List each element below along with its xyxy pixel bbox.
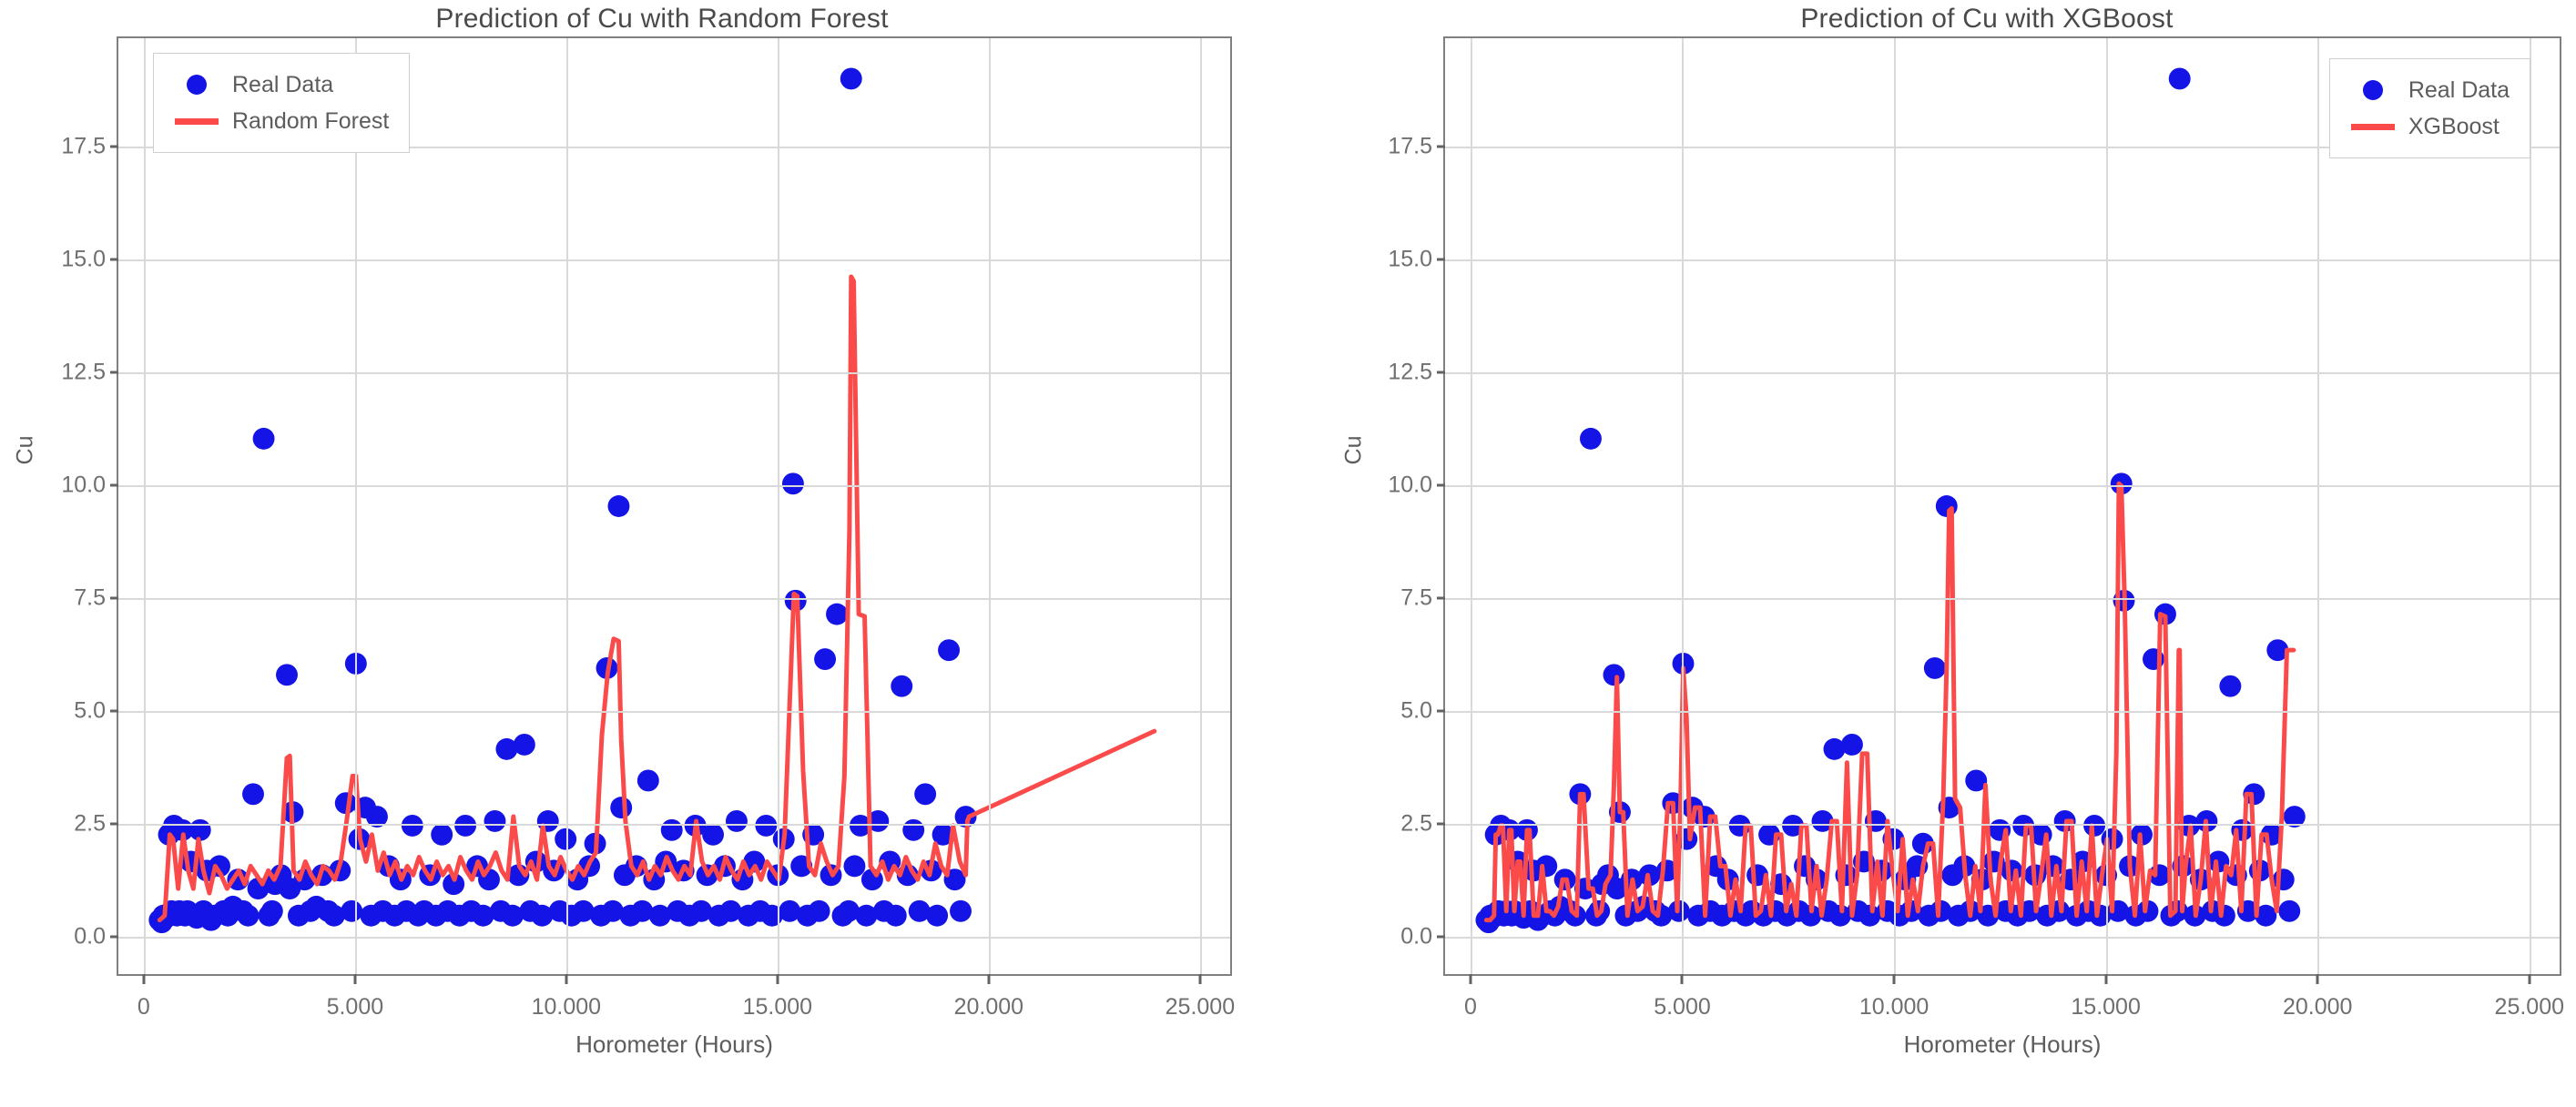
data-point (341, 900, 362, 922)
data-point (253, 428, 275, 450)
data-point (2219, 675, 2241, 697)
series-canvas-left (118, 38, 1230, 974)
x-tick-mark (2528, 974, 2530, 984)
y-tick-label: 15.0 (61, 247, 106, 273)
legend-item-real-data: Real Data (170, 66, 389, 103)
data-point (726, 810, 748, 832)
data-point (637, 770, 659, 792)
y-tick-mark (1437, 936, 1445, 939)
y-tick-label: 15.0 (1388, 247, 1432, 273)
x-tick-label: 15.000 (743, 994, 812, 1021)
x-tick-mark (1198, 974, 1201, 984)
gridline-horizontal (118, 598, 1230, 600)
data-point (782, 472, 804, 494)
chart-panel-random-forest: Prediction of Cu with Random Forest 0.02… (0, 0, 1288, 1107)
legend-left: Real Data Random Forest (153, 53, 410, 153)
data-point (1603, 664, 1624, 686)
y-axis-title-right: Cu (1340, 436, 1367, 465)
gridline-horizontal (1445, 711, 2560, 713)
x-tick-mark (565, 974, 567, 984)
legend-label-model: Random Forest (223, 108, 389, 135)
x-axis-title-left: Horometer (Hours) (575, 1031, 773, 1059)
data-point (1580, 428, 1602, 450)
gridline-vertical (989, 38, 991, 974)
y-tick-label: 2.5 (1400, 811, 1432, 838)
x-tick-label: 20.000 (954, 994, 1023, 1021)
data-point (1535, 855, 1557, 877)
gridline-horizontal (118, 711, 1230, 713)
gridline-vertical (2317, 38, 2319, 974)
data-point (2278, 900, 2300, 922)
x-axis-title-right: Horometer (Hours) (1904, 1031, 2102, 1059)
data-point (2169, 68, 2191, 90)
gridline-vertical (778, 38, 779, 974)
y-tick-label: 5.0 (74, 698, 106, 725)
data-point (2214, 905, 2235, 927)
y-tick-mark (1437, 146, 1445, 148)
gridline-horizontal (118, 824, 1230, 826)
data-point (950, 900, 972, 922)
data-point (702, 824, 724, 846)
gridline-vertical (1894, 38, 1896, 974)
chart-title-right: Prediction of Cu with XGBoost (1288, 4, 2576, 35)
real-data-points (148, 68, 976, 934)
legend-item-real-data: Real Data (2347, 72, 2510, 108)
y-tick-label: 7.5 (1400, 585, 1432, 612)
data-point (885, 905, 907, 927)
data-point (1936, 495, 1958, 517)
x-tick-mark (1469, 974, 1471, 984)
x-tick-label: 25.000 (2495, 994, 2564, 1021)
legend-item-model: XGBoost (2347, 108, 2510, 145)
data-point (242, 783, 264, 805)
gridline-horizontal (1445, 372, 2560, 374)
y-tick-mark (1437, 259, 1445, 261)
data-point (809, 900, 830, 922)
x-tick-label: 5.000 (327, 994, 384, 1021)
figure-canvas: Prediction of Cu with Random Forest 0.02… (0, 0, 2576, 1107)
series-canvas-right (1445, 38, 2560, 974)
x-tick-label: 10.000 (532, 994, 601, 1021)
prediction-line (1486, 483, 2293, 919)
data-point (1841, 734, 1863, 756)
x-tick-mark (2104, 974, 2107, 984)
x-tick-label: 0 (1464, 994, 1477, 1021)
data-point (902, 819, 924, 841)
y-tick-label: 17.5 (61, 134, 106, 160)
x-tick-mark (1893, 974, 1896, 984)
gridline-vertical (1471, 38, 1472, 974)
y-tick-label: 12.5 (61, 360, 106, 386)
y-tick-mark (110, 146, 118, 148)
model-line-icon (170, 118, 223, 125)
y-tick-mark (1437, 823, 1445, 826)
data-point (484, 810, 506, 832)
y-tick-label: 12.5 (1388, 360, 1432, 386)
y-tick-label: 17.5 (1388, 134, 1432, 160)
gridline-horizontal (118, 937, 1230, 939)
y-axis-title-left: Cu (12, 436, 38, 465)
data-point (826, 604, 848, 625)
data-point (607, 495, 629, 517)
gridline-horizontal (1445, 598, 2560, 600)
gridline-horizontal (118, 259, 1230, 261)
legend-item-model: Random Forest (170, 103, 389, 139)
y-tick-label: 0.0 (74, 924, 106, 950)
gridline-horizontal (1445, 259, 2560, 261)
data-point (261, 900, 283, 922)
plot-area-right: 0.02.55.07.510.012.515.017.5 05.00010.00… (1443, 36, 2561, 976)
x-tick-label: 25.000 (1166, 994, 1235, 1021)
real-data-dot-icon (170, 75, 223, 95)
plot-area-left: 0.02.55.07.510.012.515.017.5 05.00010.00… (117, 36, 1232, 976)
chart-panel-xgboost: Prediction of Cu with XGBoost 0.02.55.07… (1288, 0, 2576, 1107)
y-tick-mark (110, 597, 118, 600)
x-tick-mark (2316, 974, 2319, 984)
gridline-vertical (1200, 38, 1202, 974)
y-tick-mark (110, 259, 118, 261)
data-point (891, 675, 912, 697)
y-tick-mark (110, 371, 118, 374)
x-tick-mark (353, 974, 356, 984)
gridline-vertical (566, 38, 568, 974)
x-tick-label: 10.000 (1859, 994, 1929, 1021)
gridline-horizontal (1445, 824, 2560, 826)
gridline-vertical (2106, 38, 2108, 974)
gridline-horizontal (118, 485, 1230, 487)
x-tick-mark (142, 974, 145, 984)
data-point (840, 68, 862, 90)
y-tick-mark (110, 484, 118, 487)
y-tick-label: 5.0 (1400, 698, 1432, 725)
chart-title-left: Prediction of Cu with Random Forest (0, 4, 1288, 35)
y-tick-mark (110, 936, 118, 939)
plot-inner-right (1445, 38, 2560, 974)
x-tick-mark (1681, 974, 1684, 984)
y-tick-mark (1437, 484, 1445, 487)
legend-right: Real Data XGBoost (2329, 58, 2530, 158)
gridline-horizontal (1445, 485, 2560, 487)
y-tick-label: 10.0 (61, 472, 106, 499)
data-point (938, 639, 960, 661)
y-tick-mark (110, 710, 118, 713)
y-tick-mark (1437, 371, 1445, 374)
x-tick-label: 20.000 (2283, 994, 2352, 1021)
gridline-vertical (2530, 38, 2531, 974)
x-tick-mark (776, 974, 779, 984)
y-tick-mark (110, 823, 118, 826)
y-tick-label: 10.0 (1388, 472, 1432, 499)
legend-label-real-data: Real Data (223, 72, 333, 98)
y-tick-mark (1437, 710, 1445, 713)
data-point (237, 905, 259, 927)
data-point (814, 648, 836, 670)
y-tick-label: 0.0 (1400, 924, 1432, 950)
x-tick-label: 5.000 (1654, 994, 1711, 1021)
y-tick-label: 2.5 (74, 811, 106, 838)
real-data-dot-icon (2347, 80, 2399, 100)
y-tick-mark (1437, 597, 1445, 600)
data-point (276, 664, 298, 686)
gridline-vertical (355, 38, 357, 974)
model-line-icon (2347, 124, 2399, 130)
plot-inner-left (118, 38, 1230, 974)
data-point (843, 855, 865, 877)
data-point (610, 797, 632, 818)
x-tick-mark (987, 974, 990, 984)
data-point (514, 734, 535, 756)
data-point (914, 783, 936, 805)
data-point (926, 905, 948, 927)
gridline-horizontal (1445, 937, 2560, 939)
gridline-vertical (1682, 38, 1684, 974)
legend-label-model: XGBoost (2399, 114, 2500, 140)
data-point (2001, 859, 2022, 881)
x-tick-label: 0 (137, 994, 150, 1021)
y-tick-label: 7.5 (74, 585, 106, 612)
legend-label-real-data: Real Data (2399, 77, 2510, 104)
gridline-vertical (144, 38, 146, 974)
data-point (661, 819, 683, 841)
data-point (1924, 657, 1946, 679)
data-point (431, 824, 453, 846)
x-tick-label: 15.000 (2071, 994, 2140, 1021)
gridline-horizontal (118, 372, 1230, 374)
